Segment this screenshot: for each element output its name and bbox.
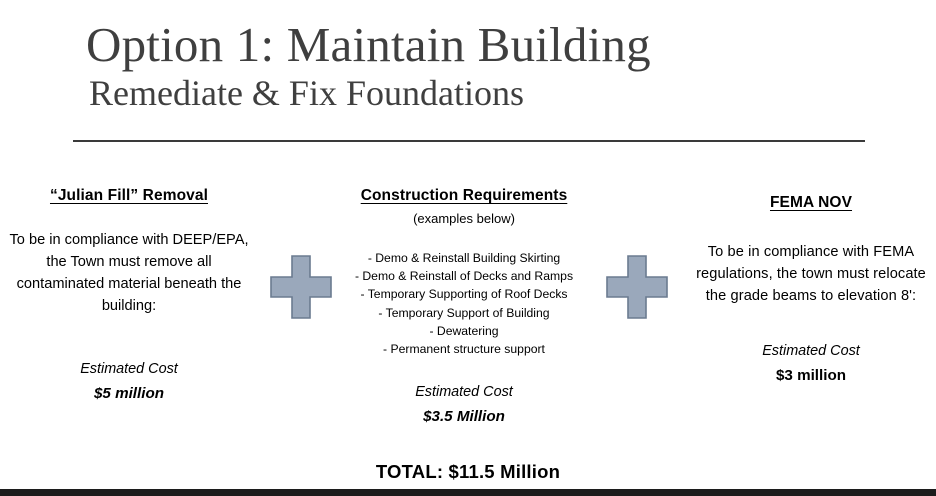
list-item: - Demo & Reinstall of Decks and Ramps	[345, 267, 583, 285]
column-heading: “Julian Fill” Removal	[4, 186, 254, 206]
column-heading: FEMA NOV	[688, 193, 934, 213]
list-item: - Dewatering	[345, 322, 583, 340]
estimated-cost-value: $5 million	[4, 383, 254, 405]
column-julian-fill: “Julian Fill” Removal To be in complianc…	[4, 186, 254, 405]
list-item: - Permanent structure support	[345, 340, 583, 358]
column-heading: Construction Requirements	[345, 186, 583, 206]
plus-icon-2	[606, 255, 668, 319]
column-body-text: To be in compliance with DEEP/EPA, the T…	[4, 229, 254, 317]
estimated-cost-label: Estimated Cost	[4, 359, 254, 379]
page-title: Option 1: Maintain Building	[0, 18, 936, 72]
list-item: - Temporary Supporting of Roof Decks	[345, 285, 583, 303]
list-item: - Demo & Reinstall Building Skirting	[345, 249, 583, 267]
title-divider	[73, 140, 865, 142]
requirements-list: - Demo & Reinstall Building Skirting - D…	[345, 249, 583, 358]
estimated-cost-value: $3.5 Million	[345, 406, 583, 428]
list-item: - Temporary Support of Building	[345, 304, 583, 322]
column-body-text: To be in compliance with FEMA regulation…	[688, 241, 934, 307]
column-construction-requirements: Construction Requirements (examples belo…	[345, 186, 583, 428]
plus-icon-1	[270, 255, 332, 319]
title-block: Option 1: Maintain Building Remediate & …	[0, 18, 936, 114]
estimated-cost-label: Estimated Cost	[345, 382, 583, 402]
page-subtitle: Remediate & Fix Foundations	[0, 72, 936, 114]
column-fema-nov: FEMA NOV To be in compliance with FEMA r…	[688, 193, 934, 387]
total-label: TOTAL: $11.5 Million	[0, 461, 936, 483]
bottom-bar	[0, 489, 936, 496]
estimated-cost-value: $3 million	[688, 365, 934, 387]
column-subheading: (examples below)	[345, 209, 583, 229]
estimated-cost-label: Estimated Cost	[688, 341, 934, 361]
